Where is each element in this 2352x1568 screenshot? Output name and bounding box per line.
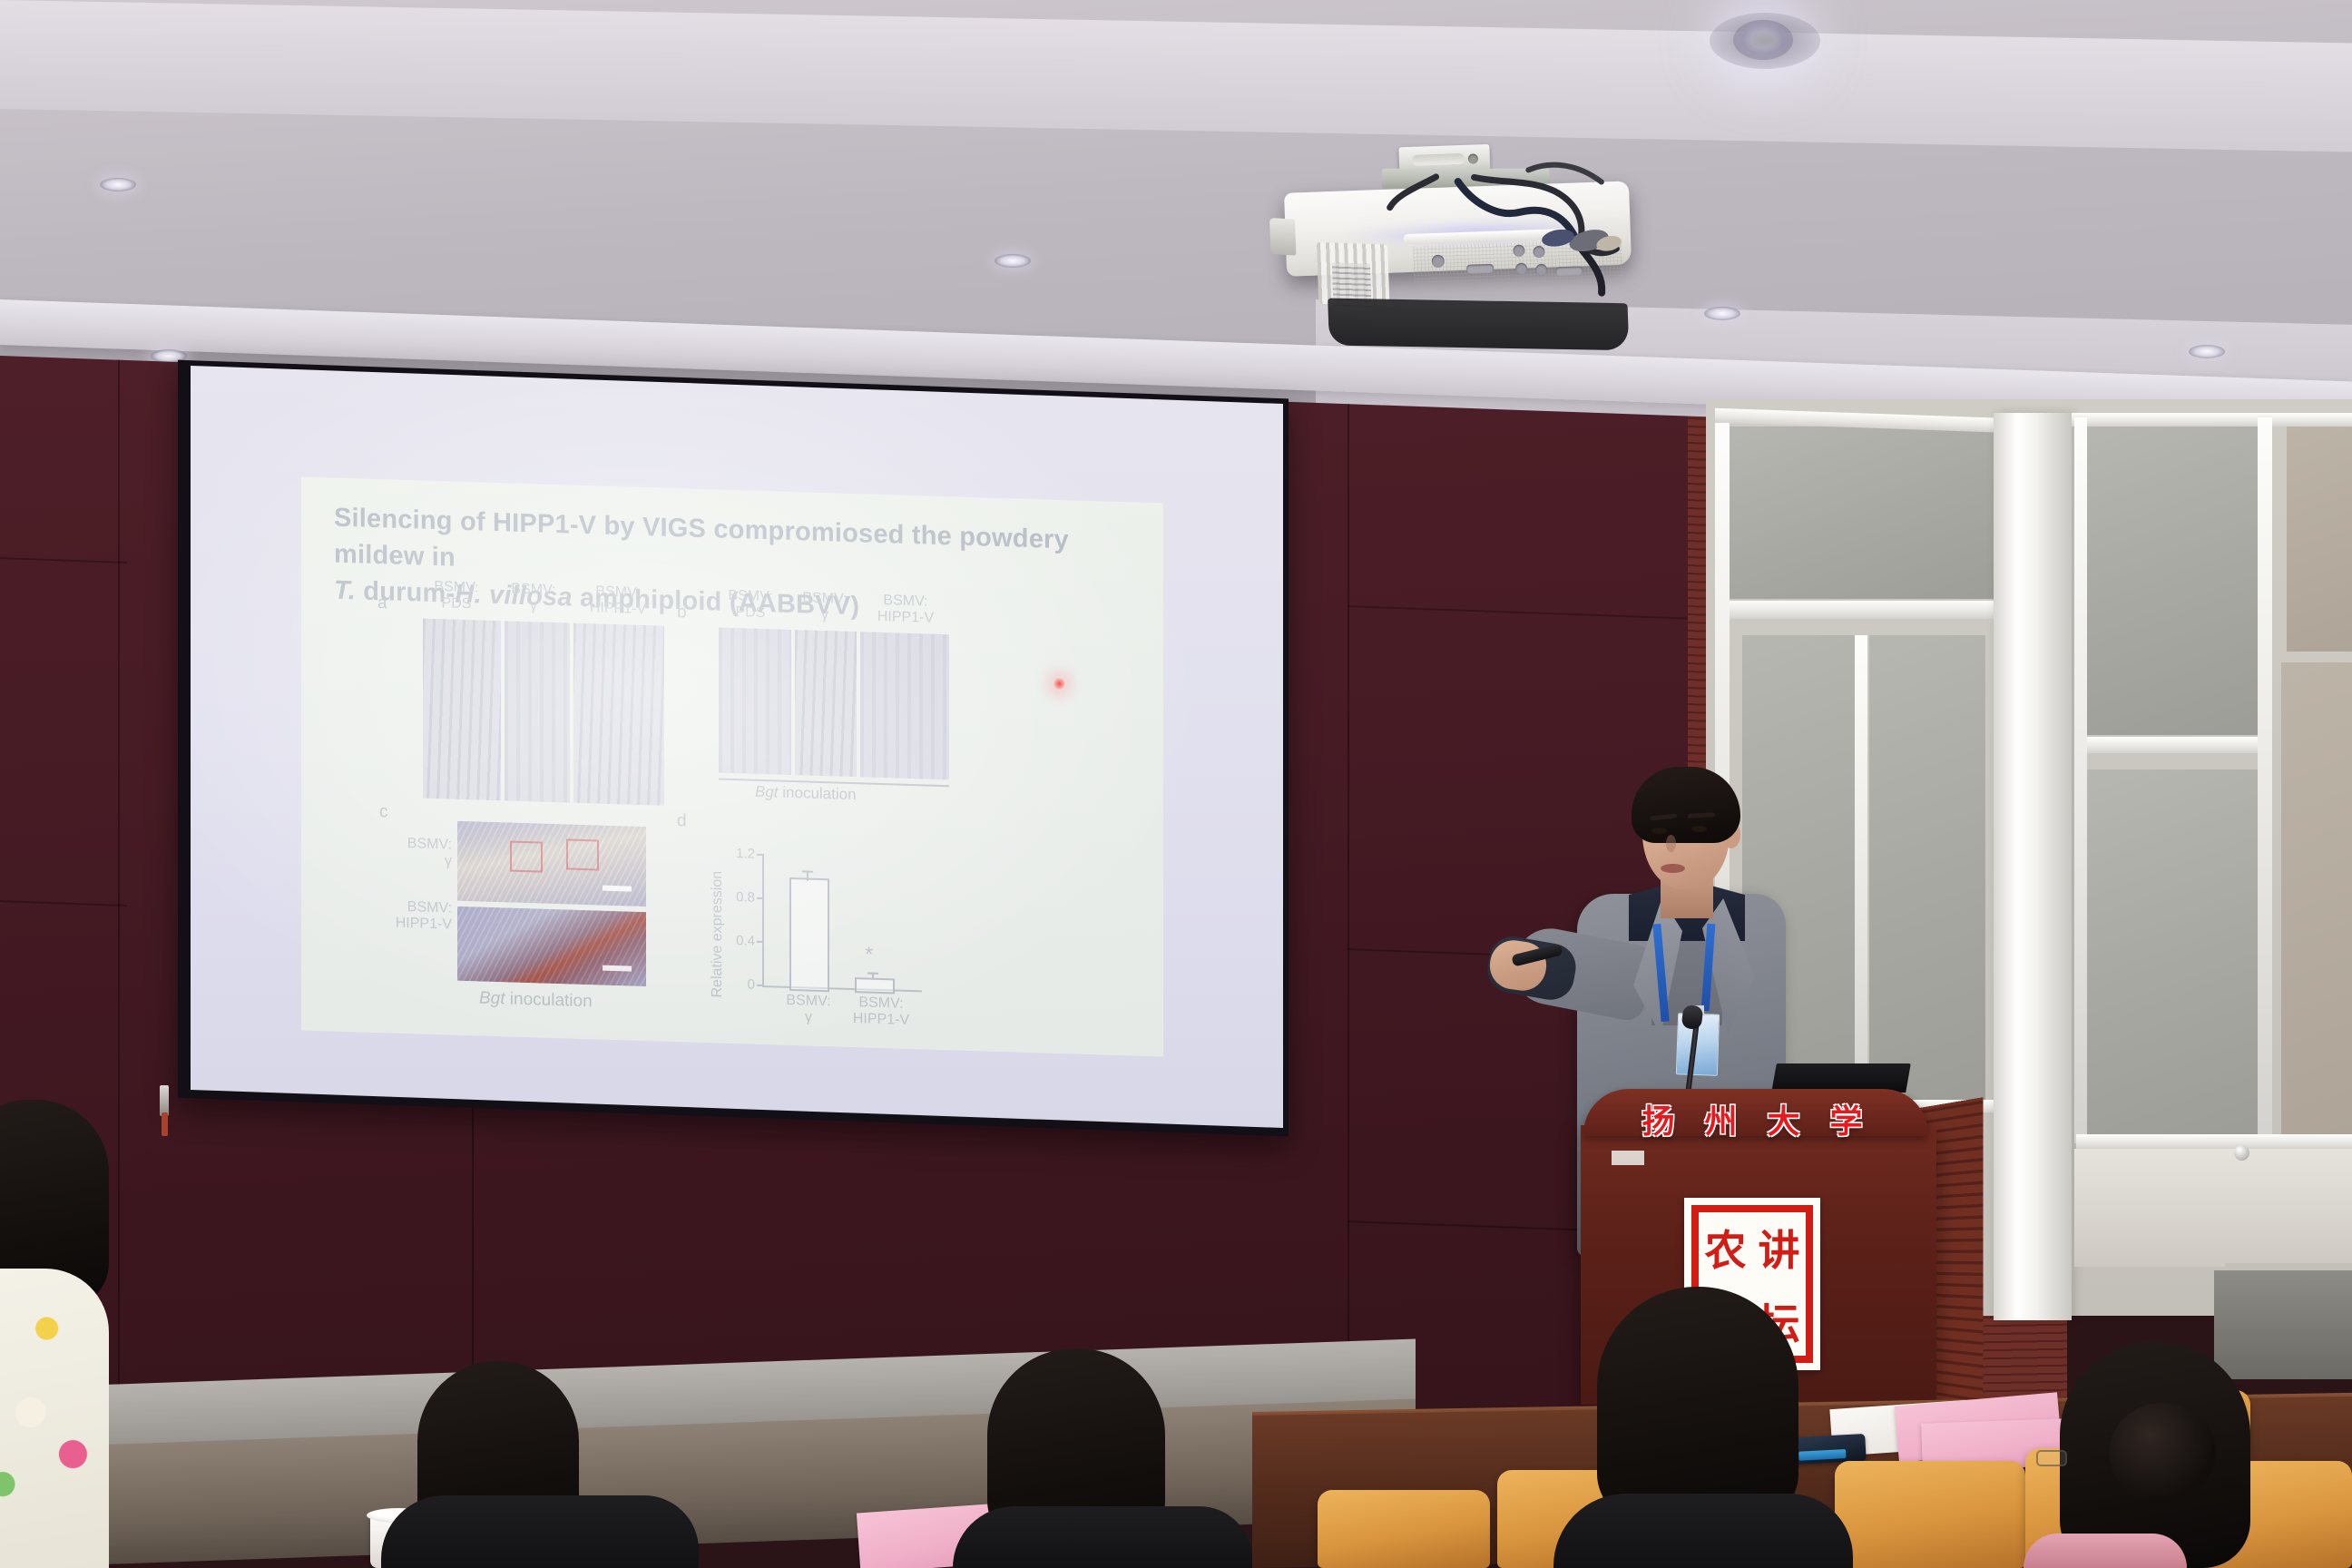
audience-head-3: [1597, 1287, 1798, 1523]
panel-a-label-3: BSMV:HIPP1-V: [570, 583, 666, 619]
chart-xcat-1: BSMV:γ: [775, 992, 842, 1026]
chart-bar-bsmv-gamma: [789, 877, 829, 992]
audience-glasses: [2036, 1450, 2067, 1466]
right-glass-far: [2287, 425, 2352, 652]
white-structural-column: [1994, 413, 2072, 1320]
audience-shoulder-pink: [2024, 1534, 2187, 1568]
chart-errorbar-cap-2: [867, 973, 878, 975]
panel-a-letter: a: [377, 593, 387, 613]
partition-glass-door-right: [1869, 635, 1985, 1107]
speaker-eye-right: [1691, 826, 1707, 832]
audience-hair-bun: [2109, 1403, 2216, 1503]
panel-a-image-1: [423, 619, 501, 801]
panel-c-letter: c: [379, 802, 388, 822]
panel-c-caption: Bgt inoculation: [479, 988, 593, 1012]
chart-y-axis: [762, 854, 764, 986]
chart-bar-bsmv-hipp1v: [855, 977, 895, 994]
chart-errorbar-cap-1: [802, 870, 813, 872]
right-wall-lower: [2074, 1149, 2352, 1267]
chair-1[interactable]: [1318, 1490, 1490, 1568]
chart-ytick-label-0: 0: [724, 976, 755, 993]
panel-c-scalebar-1: [603, 886, 632, 892]
audience-body-1: [381, 1495, 699, 1568]
right-frame-top: [2072, 413, 2352, 426]
far-desk: [2214, 1270, 2352, 1379]
panel-d-letter: d: [677, 811, 687, 831]
panel-b-label-3: BSMV:HIPP1-V: [858, 592, 953, 627]
speaker-mouth: [1661, 864, 1685, 873]
partition-frame-mid: [1720, 601, 2038, 619]
right-frame-mid: [2076, 737, 2263, 753]
panel-c-scalebar-2: [603, 965, 632, 972]
laser-pointer-dot: [1053, 677, 1066, 691]
downlight-ring: [1710, 13, 1820, 69]
chart-x-axis: [762, 985, 922, 992]
audience-floral-top: [0, 1269, 109, 1568]
podium-sticker: [1612, 1151, 1644, 1165]
chart-xcat-2: BSMV:HIPP1-V: [838, 995, 924, 1030]
smartphone[interactable]: [1792, 1434, 1866, 1465]
seal-char-1: 讲: [1759, 1218, 1800, 1278]
panel-b-image-3: [860, 632, 949, 779]
panel-c-roi-box-1: [510, 841, 543, 873]
audience-body-2: [953, 1506, 1252, 1568]
right-wall-warm-panel: [2281, 662, 2352, 1134]
panel-b-image-2: [795, 630, 857, 777]
panel-c-micro-image-2: [457, 906, 646, 986]
right-frame-bottom: [2076, 1134, 2352, 1149]
panel-a-label-1: BSMV:PDS: [416, 578, 497, 613]
panel-b-letter: b: [677, 603, 687, 622]
chart-ytick-label-2: 0.8: [724, 889, 755, 906]
door-knob-icon[interactable]: [2234, 1145, 2249, 1161]
slide-title-line2-genus: T.: [334, 576, 363, 606]
panel-a-image-3: [573, 623, 664, 806]
speaker-nose: [1666, 835, 1676, 852]
panel-b-label-2: BSMV:γ: [789, 590, 860, 624]
chart-ytick-label-3: 1.2: [724, 846, 755, 862]
panel-c-row-label-2: BSMV:HIPP1-V: [327, 897, 452, 933]
relative-expression-bar-chart: Relative expression 1.2 0.8 0.4 0 * BSMV…: [701, 827, 964, 1044]
chart-ytick-label-1: 0.4: [724, 933, 755, 949]
right-door-panel: [2087, 769, 2258, 1140]
panel-c-micro-image-1: [457, 821, 646, 906]
panel-b-image-1: [719, 628, 791, 775]
right-glass-upper: [2083, 426, 2258, 735]
right-frame-vert2: [2074, 417, 2087, 1143]
screen-hook: [160, 1085, 169, 1116]
panel-c-roi-box-2: [566, 838, 599, 870]
panel-c-row-label-1: BSMV:γ: [345, 834, 452, 869]
presentation-slide: Silencing of HIPP1-V by VIGS compromiose…: [301, 476, 1163, 1056]
podium-university-name: 扬 州 大 学: [1617, 1095, 1898, 1135]
lecture-hall-photo: Silencing of HIPP1-V by VIGS compromiose…: [0, 0, 2352, 1568]
slide-title-line1: Silencing of HIPP1-V by VIGS compromiose…: [334, 504, 1069, 573]
panel-a-label-2: BSMV:γ: [497, 581, 570, 615]
partition-glass-upper-left: [1729, 426, 2028, 599]
audience-body-3: [1553, 1494, 1853, 1568]
panel-b-caption: Bgt inoculation: [755, 783, 857, 804]
ceiling-projector: [1262, 139, 1659, 343]
chair-3[interactable]: [1835, 1461, 2025, 1568]
right-frame-vert: [2258, 417, 2272, 1143]
projector-cables: [1262, 139, 1659, 343]
speaker-eye-left: [1651, 828, 1667, 834]
partition-mullion: [1855, 635, 1867, 1107]
panel-a-image-2: [505, 621, 570, 802]
seal-char-2: 农: [1705, 1218, 1747, 1278]
screen-hook-strap: [162, 1112, 168, 1136]
panel-b-label-1: BSMV:PDS: [711, 587, 789, 622]
chart-significance-asterisk: *: [865, 942, 873, 967]
